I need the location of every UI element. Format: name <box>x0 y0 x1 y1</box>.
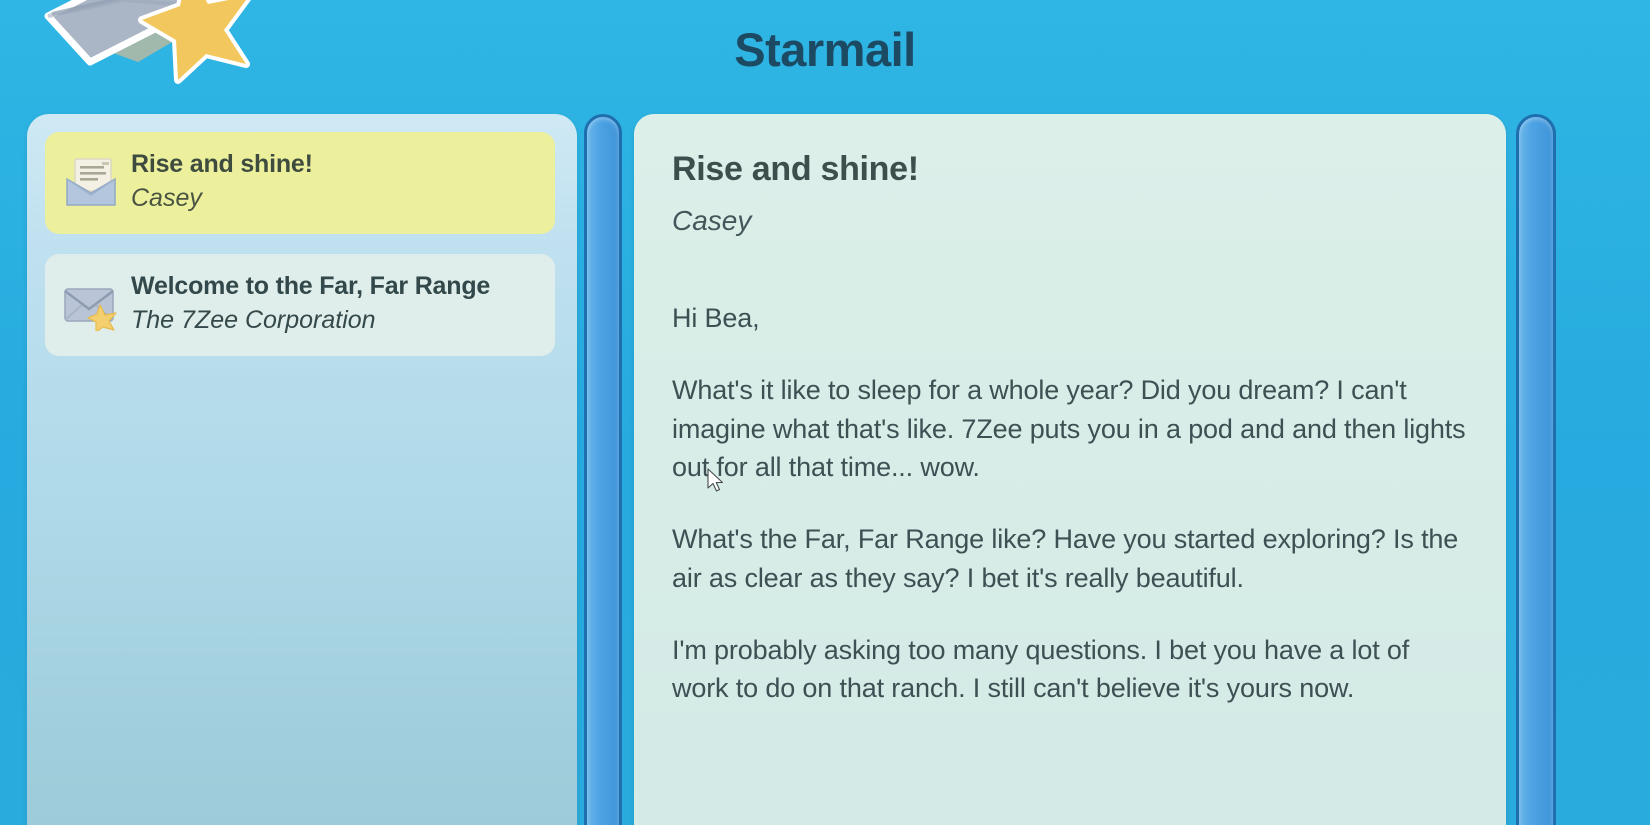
body-paragraph: I'm probably asking too many questions. … <box>672 631 1466 708</box>
reader-subject: Rise and shine! <box>672 150 1466 189</box>
body-paragraph: What's the Far, Far Range like? Have you… <box>672 520 1466 597</box>
list-item-subject: Welcome to the Far, Far Range <box>131 272 537 302</box>
list-item-sender: The 7Zee Corporation <box>131 304 537 337</box>
message-list-panel: Rise and shine! Casey Welcome to the Far… <box>27 114 577 825</box>
app-header: Starmail <box>0 0 1650 112</box>
page-title: Starmail <box>0 22 1650 77</box>
message-list-scrollbar[interactable] <box>584 114 622 825</box>
reader-sender: Casey <box>672 205 1466 237</box>
reader-body: Hi Bea, What's it like to sleep for a wh… <box>672 299 1466 708</box>
list-item-sender: Casey <box>131 182 537 215</box>
body-paragraph: What's it like to sleep for a whole year… <box>672 371 1466 486</box>
open-envelope-icon <box>61 157 121 209</box>
reading-pane-scrollbar[interactable] <box>1516 114 1556 825</box>
list-item[interactable]: Rise and shine! Casey <box>45 132 555 234</box>
reading-pane: Rise and shine! Casey Hi Bea, What's it … <box>634 114 1506 825</box>
list-item-subject: Rise and shine! <box>131 150 537 180</box>
body-paragraph: Hi Bea, <box>672 299 1466 337</box>
list-item[interactable]: Welcome to the Far, Far Range The 7Zee C… <box>45 254 555 356</box>
closed-envelope-star-icon <box>61 279 121 331</box>
